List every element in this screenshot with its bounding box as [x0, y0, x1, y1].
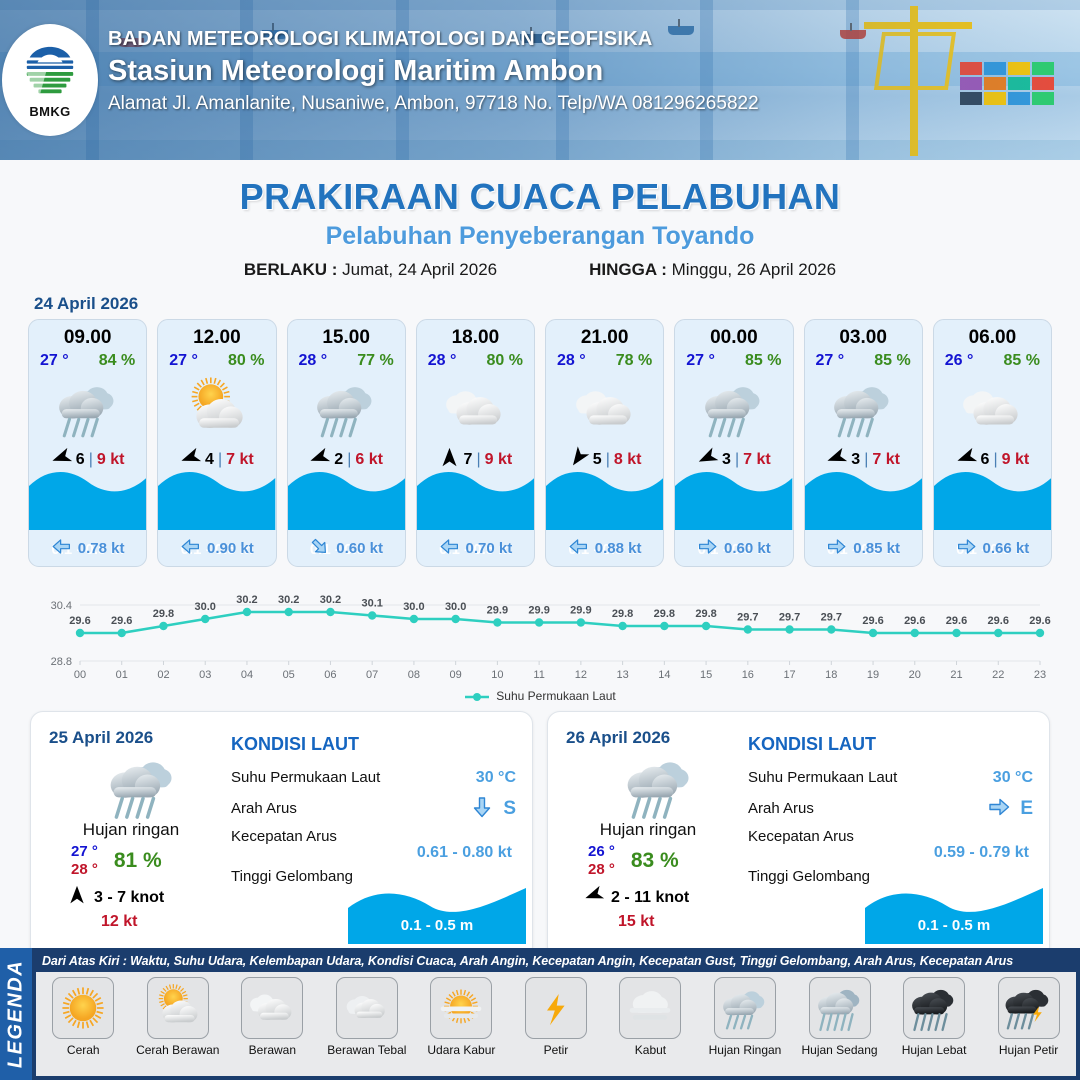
current-direction-value: S [503, 798, 516, 820]
svg-text:01: 01 [116, 669, 128, 681]
card-current: 0.66 kt [934, 536, 1051, 561]
legend-item-label: Hujan Lebat [902, 1043, 967, 1057]
card-humidity: 80 % [487, 352, 523, 370]
svg-text:30.0: 30.0 [445, 601, 466, 613]
card-time: 12.00 [158, 327, 275, 349]
sst-label: Suhu Permukaan Laut [748, 769, 897, 786]
svg-text:30.2: 30.2 [278, 594, 299, 606]
wave-graphic [158, 464, 275, 530]
valid-from: BERLAKU : Jumat, 24 April 2026 [244, 260, 497, 280]
svg-text:19: 19 [867, 669, 879, 681]
wind-direction-icon [67, 885, 87, 910]
card-time: 06.00 [934, 327, 1051, 349]
weather-icon-hujan-ringan [714, 977, 776, 1039]
card-time: 18.00 [417, 327, 534, 349]
card-temperature: 27 ° [686, 352, 715, 370]
weather-icon-hujan-ringan [566, 750, 748, 818]
panel-temp-min: 26 ° [588, 843, 615, 861]
weather-icon-hujan-ringan [288, 372, 405, 446]
current-direction-label: Arah Arus [231, 800, 297, 817]
weather-icon-hujan-ringan [805, 372, 922, 446]
svg-text:18: 18 [825, 669, 837, 681]
daily-forecast-panel[interactable]: 25 April 2026 Hujan ringan 27 ° 28 ° [30, 711, 533, 959]
chart-legend-label: Suhu Permukaan Laut [496, 689, 615, 703]
svg-text:29.6: 29.6 [862, 615, 883, 627]
agency-name: BADAN METEOROLOGI KLIMATOLOGI DAN GEOFIS… [108, 28, 759, 51]
card-temperature: 27 ° [40, 352, 69, 370]
legend-item: Cerah Berawan [134, 977, 222, 1057]
panel-temp-max: 28 ° [71, 861, 98, 879]
wave-height-label: Tinggi Gelombang [748, 868, 870, 885]
forecast-card[interactable]: 03.00 27 ° 85 % 3 | 7 kt [804, 319, 923, 567]
svg-text:29.6: 29.6 [946, 615, 967, 627]
legend-item: Hujan Sedang [796, 977, 884, 1057]
svg-text:14: 14 [658, 669, 670, 681]
svg-text:23: 23 [1034, 669, 1046, 681]
weather-icon-cerah-berawan [158, 372, 275, 446]
svg-text:22: 22 [992, 669, 1004, 681]
validity-row: BERLAKU : Jumat, 24 April 2026 HINGGA : … [0, 260, 1080, 280]
svg-text:29.7: 29.7 [821, 612, 842, 624]
card-time: 03.00 [805, 327, 922, 349]
weather-icon-hujan-ringan [49, 750, 231, 818]
weather-icon-hujan-ringan [675, 372, 792, 446]
svg-text:08: 08 [408, 669, 420, 681]
current-direction-value: E [1020, 798, 1033, 820]
weather-icon-berawan [241, 977, 303, 1039]
wave-graphic [675, 464, 792, 530]
current-direction-icon [568, 536, 589, 561]
legend-item: Petir [512, 977, 600, 1057]
svg-text:16: 16 [742, 669, 754, 681]
svg-text:17: 17 [783, 669, 795, 681]
svg-text:29.9: 29.9 [528, 605, 549, 617]
svg-text:11: 11 [533, 669, 544, 681]
panel-date: 26 April 2026 [566, 728, 748, 748]
svg-text:29.8: 29.8 [654, 608, 675, 620]
current-direction-icon [697, 536, 718, 561]
current-speed: 0.90 kt [207, 540, 254, 557]
current-speed: 0.60 kt [724, 540, 771, 557]
current-speed: 0.88 kt [595, 540, 642, 557]
wind-direction-icon [584, 885, 604, 910]
panel-wind: 2 - 11 knot [566, 885, 748, 910]
bmkg-logo: BMKG [2, 24, 98, 136]
wave-height-value: 0.1 - 0.5 m [865, 917, 1043, 934]
forecast-card-list: 09.00 27 ° 84 % 6 | 9 kt [0, 319, 1080, 567]
wave-graphic: 0.1 - 0.5 m [865, 882, 1043, 944]
svg-text:00: 00 [74, 669, 86, 681]
forecast-card[interactable]: 09.00 27 ° 84 % 6 | 9 kt [28, 319, 147, 567]
card-current: 0.85 kt [805, 536, 922, 561]
panel-wind: 3 - 7 knot [49, 885, 231, 910]
card-current: 0.70 kt [417, 536, 534, 561]
legend-item-list: Cerah Cerah Berawan [36, 972, 1076, 1076]
weather-icon-petir [525, 977, 587, 1039]
bmkg-logo-text: BMKG [29, 104, 70, 119]
legend-side-title: LEGENDA [0, 948, 32, 1080]
svg-text:30.2: 30.2 [320, 594, 341, 606]
legend-item-label: Hujan Sedang [801, 1043, 877, 1057]
current-speed: 0.66 kt [983, 540, 1030, 557]
weather-icon-berawan [934, 372, 1051, 446]
station-name: Stasiun Meteorologi Maritim Ambon [108, 55, 759, 88]
card-temperature: 27 ° [169, 352, 198, 370]
svg-text:30.0: 30.0 [195, 601, 216, 613]
wave-graphic [288, 464, 405, 530]
card-current: 0.78 kt [29, 536, 146, 561]
sst-chart: 30.428.800010203040506070809101112131415… [28, 579, 1052, 687]
svg-text:05: 05 [283, 669, 295, 681]
card-current: 0.60 kt [675, 536, 792, 561]
weather-icon-hujan-ringan [29, 372, 146, 446]
wave-graphic: 0.1 - 0.5 m [348, 882, 526, 944]
svg-text:30.4: 30.4 [51, 600, 72, 612]
current-speed-label: Kecepatan Arus [748, 828, 854, 845]
svg-text:07: 07 [366, 669, 378, 681]
legend-item: Hujan Ringan [701, 977, 789, 1057]
legend-item-label: Cerah [67, 1043, 100, 1057]
wave-graphic [417, 464, 534, 530]
svg-text:28.8: 28.8 [51, 656, 72, 668]
valid-to-value: Minggu, 26 April 2026 [672, 260, 836, 279]
page-subtitle: Pelabuhan Penyeberangan Toyando [0, 222, 1080, 251]
station-address: Alamat Jl. Amanlanite, Nusaniwe, Ambon, … [108, 93, 759, 115]
card-humidity: 78 % [616, 352, 652, 370]
page-header: BMKG BADAN METEOROLOGI KLIMATOLOGI DAN G… [0, 0, 1080, 160]
svg-text:29.6: 29.6 [988, 615, 1009, 627]
valid-from-label: BERLAKU : [244, 260, 338, 279]
weather-icon-hujan-petir [998, 977, 1060, 1039]
current-speed: 0.78 kt [78, 540, 125, 557]
legend-item-label: Berawan Tebal [327, 1043, 406, 1057]
svg-text:13: 13 [616, 669, 628, 681]
valid-to-label: HINGGA : [589, 260, 667, 279]
panel-condition: Hujan ringan [566, 820, 748, 840]
chart-legend: Suhu Permukaan Laut [0, 689, 1080, 703]
card-current: 0.60 kt [288, 536, 405, 561]
svg-text:20: 20 [909, 669, 921, 681]
svg-text:29.8: 29.8 [612, 608, 633, 620]
card-humidity: 85 % [745, 352, 781, 370]
current-direction-icon [470, 795, 494, 823]
svg-text:15: 15 [700, 669, 712, 681]
legend-item: Berawan Tebal [323, 977, 411, 1057]
svg-text:21: 21 [950, 669, 962, 681]
card-humidity: 77 % [357, 352, 393, 370]
panel-date: 25 April 2026 [49, 728, 231, 748]
legend-item-label: Hujan Ringan [709, 1043, 782, 1057]
current-speed-value: 0.61 - 0.80 kt [231, 844, 516, 862]
svg-text:02: 02 [157, 669, 169, 681]
daily-panel-list: 25 April 2026 Hujan ringan 27 ° 28 ° [0, 703, 1080, 959]
forecast-card[interactable]: 12.00 27 ° 80 % 4 | 7 kt [157, 319, 276, 567]
bmkg-logo-mark [21, 41, 79, 103]
sst-value: 30 °C [993, 769, 1033, 787]
weather-icon-berawan [546, 372, 663, 446]
card-current: 0.90 kt [158, 536, 275, 561]
legend-item: Berawan [228, 977, 316, 1057]
weather-icon-udara-kabur [430, 977, 492, 1039]
card-temperature: 28 ° [299, 352, 328, 370]
forecast-card[interactable]: 15.00 28 ° 77 % 2 | 6 kt [287, 319, 406, 567]
weather-icon-cerah-berawan [147, 977, 209, 1039]
wave-height-value: 0.1 - 0.5 m [348, 917, 526, 934]
current-speed: 0.60 kt [336, 540, 383, 557]
current-direction-icon [180, 536, 201, 561]
panel-humidity: 81 % [114, 849, 162, 873]
legend-item: Kabut [606, 977, 694, 1057]
wave-graphic [805, 464, 922, 530]
svg-text:29.7: 29.7 [737, 612, 758, 624]
weather-icon-cerah [52, 977, 114, 1039]
svg-text:30.2: 30.2 [236, 594, 257, 606]
legend-item-label: Kabut [635, 1043, 666, 1057]
legend-item-label: Berawan [249, 1043, 296, 1057]
svg-text:29.6: 29.6 [69, 615, 90, 627]
panel-temp-min: 27 ° [71, 843, 98, 861]
svg-text:29.6: 29.6 [1029, 615, 1050, 627]
card-humidity: 85 % [874, 352, 910, 370]
weather-icon-kabut [619, 977, 681, 1039]
svg-text:29.9: 29.9 [487, 605, 508, 617]
svg-text:09: 09 [450, 669, 462, 681]
wave-graphic [934, 464, 1051, 530]
legend-bar: LEGENDA Dari Atas Kiri : Waktu, Suhu Uda… [0, 948, 1080, 1080]
weather-icon-berawan [417, 372, 534, 446]
daily-forecast-panel[interactable]: 26 April 2026 Hujan ringan 26 ° 28 ° [547, 711, 1050, 959]
card-temperature: 28 ° [428, 352, 457, 370]
chart-legend-marker [464, 691, 490, 701]
weather-icon-hujan-lebat [903, 977, 965, 1039]
forecast-card[interactable]: 18.00 28 ° 80 % 7 | 9 kt [416, 319, 535, 567]
wave-height-label: Tinggi Gelombang [231, 868, 353, 885]
legend-item-label: Udara Kabur [427, 1043, 495, 1057]
forecast-card[interactable]: 06.00 26 ° 85 % 6 | 9 kt [933, 319, 1052, 567]
wave-graphic [29, 464, 146, 530]
card-humidity: 80 % [228, 352, 264, 370]
legend-item: Udara Kabur [417, 977, 505, 1057]
svg-text:29.6: 29.6 [904, 615, 925, 627]
card-humidity: 85 % [1004, 352, 1040, 370]
weather-icon-hujan-sedang [809, 977, 871, 1039]
valid-to: HINGGA : Minggu, 26 April 2026 [589, 260, 836, 280]
current-speed-label: Kecepatan Arus [231, 828, 337, 845]
current-speed: 0.70 kt [466, 540, 513, 557]
card-humidity: 84 % [99, 352, 135, 370]
current-direction-label: Arah Arus [748, 800, 814, 817]
svg-text:29.8: 29.8 [153, 608, 174, 620]
svg-text:29.7: 29.7 [779, 612, 800, 624]
legend-item: Hujan Petir [985, 977, 1073, 1057]
current-speed: 0.85 kt [853, 540, 900, 557]
svg-text:06: 06 [324, 669, 336, 681]
panel-wind-gust: 12 kt [49, 913, 231, 931]
legend-item-label: Cerah Berawan [136, 1043, 219, 1057]
panel-wind-range: 2 - 11 knot [611, 889, 689, 907]
svg-text:29.6: 29.6 [111, 615, 132, 627]
current-direction-icon [826, 536, 847, 561]
panel-condition: Hujan ringan [49, 820, 231, 840]
card-time: 21.00 [546, 327, 663, 349]
panel-wind-gust: 15 kt [566, 913, 748, 931]
svg-text:04: 04 [241, 669, 253, 681]
panel-humidity: 83 % [631, 849, 679, 873]
svg-text:30.1: 30.1 [361, 598, 382, 610]
panel-temp-max: 28 ° [588, 861, 615, 879]
valid-from-value: Jumat, 24 April 2026 [342, 260, 497, 279]
card-time: 00.00 [675, 327, 792, 349]
sea-conditions-title: KONDISI LAUT [748, 734, 1033, 755]
svg-text:12: 12 [575, 669, 587, 681]
card-temperature: 27 ° [816, 352, 845, 370]
card-time: 15.00 [288, 327, 405, 349]
sst-label: Suhu Permukaan Laut [231, 769, 380, 786]
sea-conditions-title: KONDISI LAUT [231, 734, 516, 755]
current-speed-value: 0.59 - 0.79 kt [748, 844, 1033, 862]
current-direction-icon [309, 536, 330, 561]
current-direction-icon [956, 536, 977, 561]
weather-icon-berawan-tebal [336, 977, 398, 1039]
current-direction-icon [439, 536, 460, 561]
svg-text:30.0: 30.0 [403, 601, 424, 613]
svg-text:10: 10 [491, 669, 503, 681]
forecast-card[interactable]: 21.00 28 ° 78 % 5 | 8 kt [545, 319, 664, 567]
legend-item-label: Petir [544, 1043, 569, 1057]
page-title: PRAKIRAAN CUACA PELABUHAN [0, 176, 1080, 218]
card-current: 0.88 kt [546, 536, 663, 561]
legend-item: Cerah [39, 977, 127, 1057]
card-temperature: 28 ° [557, 352, 586, 370]
current-direction-icon [51, 536, 72, 561]
current-direction-icon [987, 795, 1011, 823]
svg-text:03: 03 [199, 669, 211, 681]
sst-value: 30 °C [476, 769, 516, 787]
legend-note: Dari Atas Kiri : Waktu, Suhu Udara, Kele… [32, 948, 1080, 972]
forecast-day-label: 24 April 2026 [34, 294, 1080, 314]
legend-item: Hujan Lebat [890, 977, 978, 1057]
panel-wind-range: 3 - 7 knot [94, 889, 164, 907]
svg-text:29.8: 29.8 [695, 608, 716, 620]
svg-text:29.9: 29.9 [570, 605, 591, 617]
legend-item-label: Hujan Petir [999, 1043, 1058, 1057]
card-time: 09.00 [29, 327, 146, 349]
wave-graphic [546, 464, 663, 530]
card-temperature: 26 ° [945, 352, 974, 370]
forecast-card[interactable]: 00.00 27 ° 85 % 3 | 7 kt [674, 319, 793, 567]
